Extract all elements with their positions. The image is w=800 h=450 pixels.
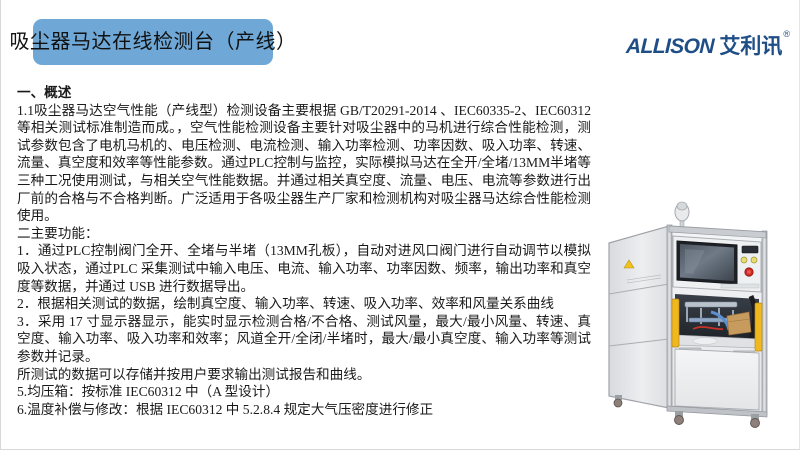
function-item-5: 5.均压箱：按标准 IEC60312 中（A 型设计） [17, 383, 591, 401]
safety-curtain-left [672, 299, 679, 347]
safety-curtain-right [755, 303, 762, 351]
machine-test-cavity [675, 294, 759, 339]
registered-trademark-icon: ® [783, 30, 790, 39]
function-item-6: 6.温度补偿与修改：根据 IEC60312 中 5.2.8.4 规定大气压密度进… [17, 401, 591, 419]
body-text-block: 一、概述 1.1吸尘器马达空气性能（产线型）检测设备主要根据 GB/T20291… [17, 84, 591, 418]
machine-lower-door [675, 349, 759, 410]
company-logo: ALLISON 艾利讯 ® [626, 36, 790, 57]
logo-text-en: ALLISON [626, 36, 715, 57]
logo-text-cn: 艾利讯 [719, 36, 782, 57]
machine-control-panel [673, 236, 761, 292]
slide-root: 吸尘器马达在线检测台（产线） ALLISON 艾利讯 ® 一、概述 1.1吸尘器… [0, 0, 800, 450]
section-heading-functions: 二主要功能： [17, 225, 591, 243]
function-item-1: 1．通过PLC控制阀门全开、全堵与半堵（13MM孔板），自动对进风口阀门进行自动… [17, 242, 591, 295]
machine-left-cabinet [609, 226, 669, 408]
page-title: 吸尘器马达在线检测台（产线） [10, 32, 297, 52]
function-item-4: 所测试的数据可以存储并按用户要求输出测试报告和曲线。 [17, 366, 591, 384]
section-heading-overview: 一、概述 [17, 84, 591, 102]
machine-photo [601, 196, 797, 428]
function-item-3: 3．采用 17 寸显示器显示，能实时显示检测合格/不合格、测试风量，最大/最小风… [17, 313, 591, 366]
function-item-2: 2．根据相关测试的数据，绘制真空度、输入功率、转速、吸入功率、效率和风量关系曲线 [17, 295, 591, 313]
title-banner: 吸尘器马达在线检测台（产线） [33, 19, 273, 65]
section-overview-body: 1.1吸尘器马达空气性能（产线型）检测设备主要根据 GB/T20291-2014… [17, 102, 591, 225]
